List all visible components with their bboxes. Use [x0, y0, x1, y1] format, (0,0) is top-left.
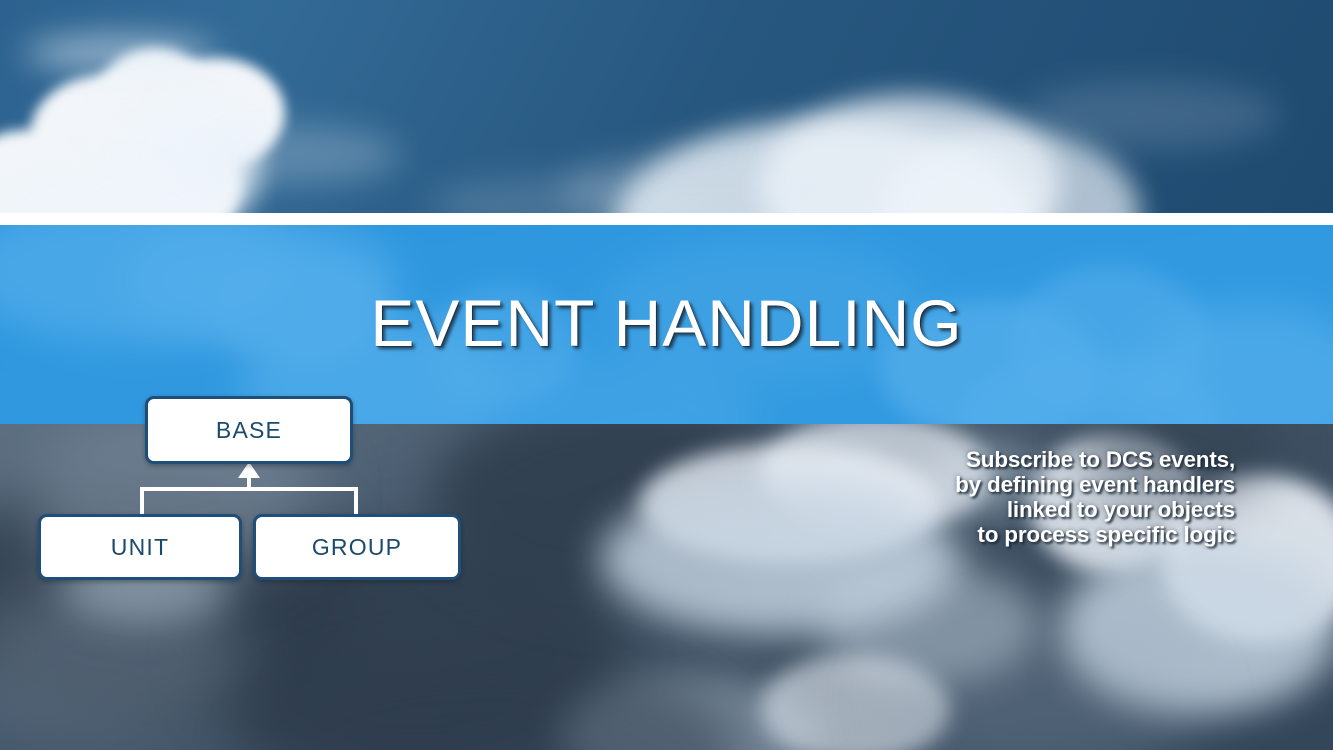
class-node-base[interactable]: BASE — [145, 396, 353, 464]
class-node-unit[interactable]: UNIT — [38, 514, 242, 580]
subtitle-line-2: by defining event handlers — [815, 472, 1235, 497]
subtitle-line-1: Subscribe to DCS events, — [815, 447, 1235, 472]
slide-canvas: EVENT HANDLING Subscribe to DCS events, … — [0, 0, 1333, 750]
class-diagram: BASE UNIT GROUP — [0, 0, 520, 750]
subtitle-line-3: linked to your objects — [815, 497, 1235, 522]
class-node-base-label: BASE — [216, 417, 282, 444]
class-node-group-label: GROUP — [312, 534, 402, 561]
class-node-group[interactable]: GROUP — [253, 514, 461, 580]
inheritance-arrow-icon — [238, 462, 260, 478]
connector-branch-unit — [140, 487, 144, 516]
connector-branch-group — [354, 487, 358, 516]
class-node-unit-label: UNIT — [111, 534, 169, 561]
subtitle-block: Subscribe to DCS events, by defining eve… — [815, 447, 1235, 547]
subtitle-line-4: to process specific logic — [815, 522, 1235, 547]
